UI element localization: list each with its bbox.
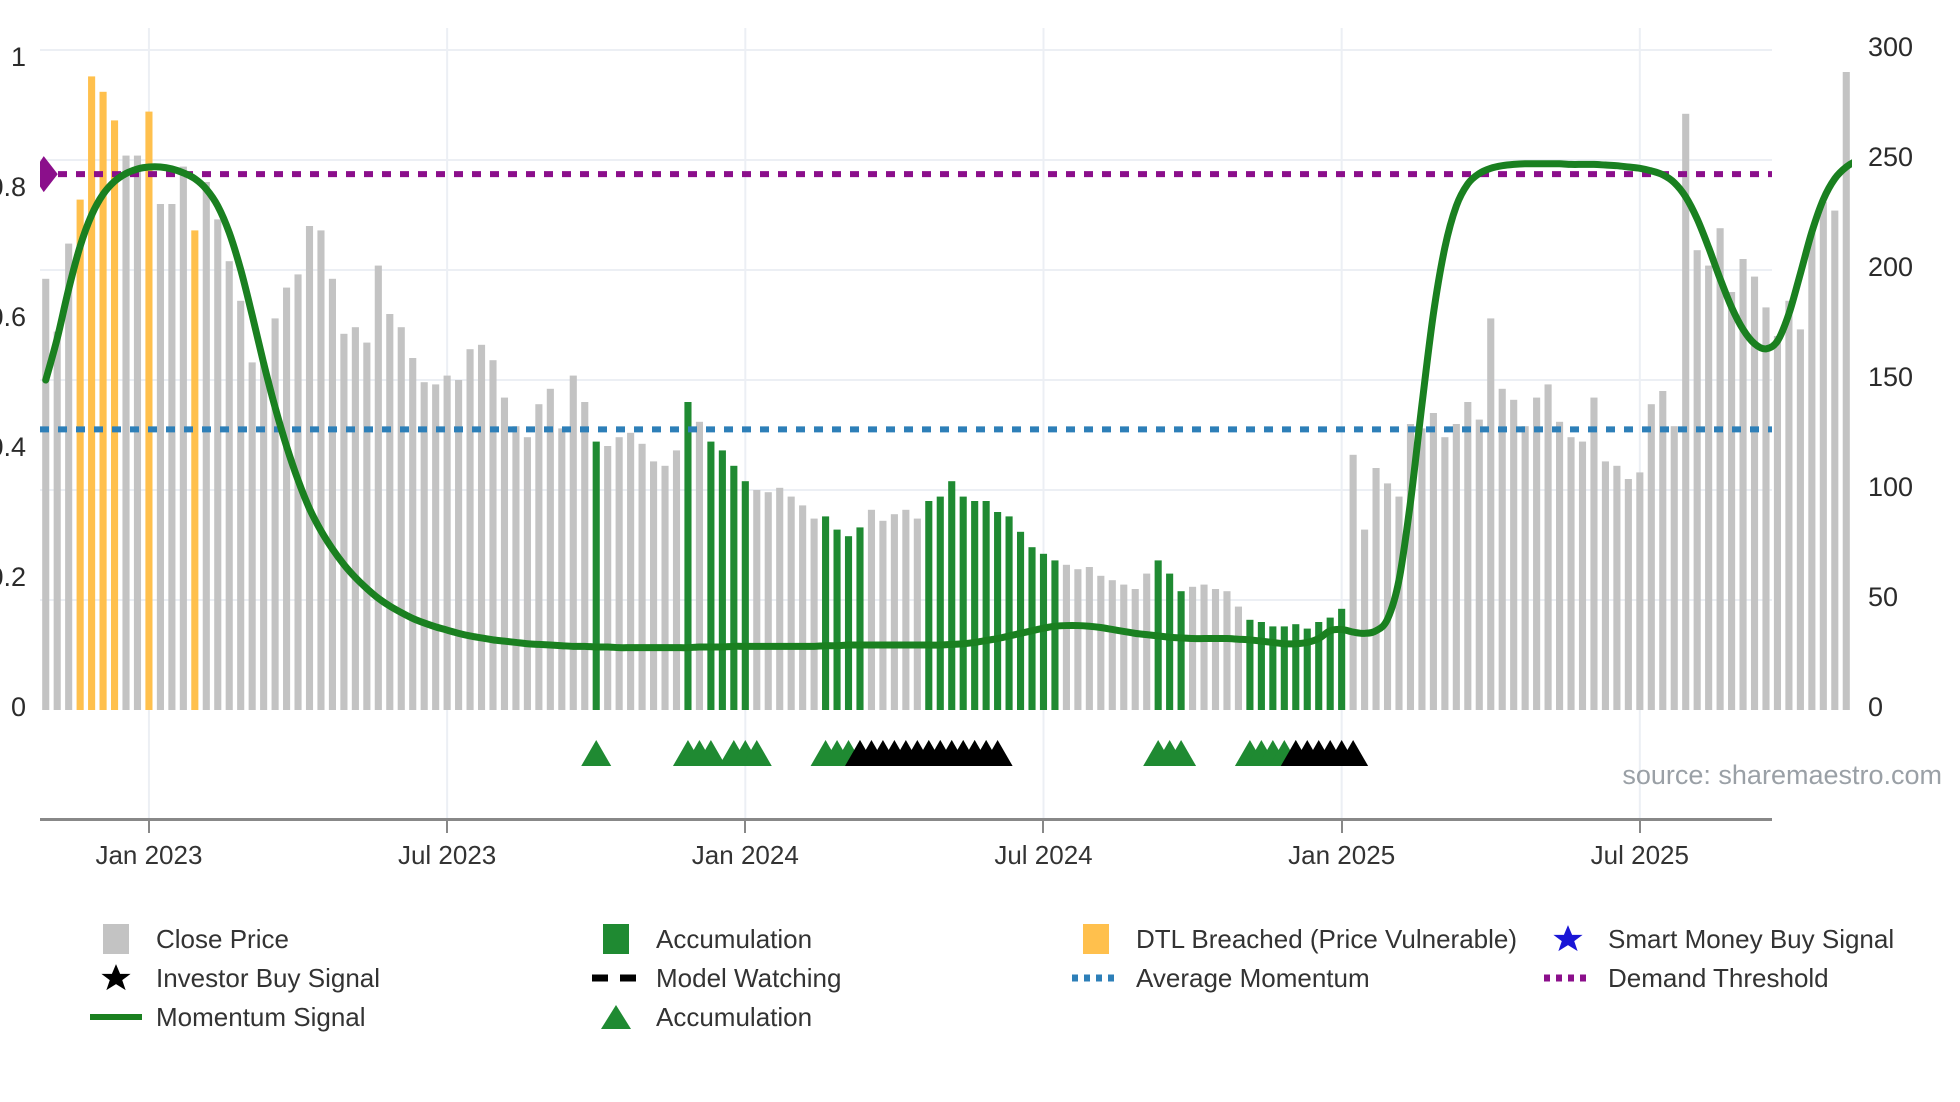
demand-threshold-dot-icon (1542, 961, 1594, 995)
bar-close-price (1373, 468, 1380, 710)
legend-item-label: Smart Money Buy Signal (1608, 926, 1894, 952)
legend-item[interactable]: Accumulation (588, 998, 841, 1036)
bar-close-price (1728, 292, 1735, 710)
bar-accumulation (822, 516, 829, 710)
legend-glyph (88, 1000, 144, 1034)
chart-svg (40, 28, 1852, 830)
bar-close-price (581, 402, 588, 710)
bar-accumulation (1292, 624, 1299, 710)
bar-close-price (1522, 426, 1529, 710)
bar-close-price (272, 318, 279, 710)
bar-close-price (765, 492, 772, 710)
bar-close-price (375, 266, 382, 710)
bar-close-price (489, 360, 496, 710)
legend-glyph (1540, 961, 1596, 995)
smart-money-star-icon (1550, 922, 1586, 956)
bar-close-price (1097, 576, 1104, 710)
bar-dtl-breached (191, 230, 198, 710)
bar-accumulation (845, 536, 852, 710)
bar-close-price (1223, 591, 1230, 710)
chart-page: Jan 2023Jul 2023Jan 2024Jul 2024Jan 2025… (0, 0, 1960, 1102)
bar-close-price (627, 433, 634, 710)
legend-column: Smart Money Buy SignalDemand Threshold (1540, 920, 1894, 998)
bar-accumulation (960, 497, 967, 710)
close-price-swatch (103, 924, 129, 954)
bar-dtl-breached (145, 112, 152, 710)
bar-close-price (478, 345, 485, 710)
bar-close-price (868, 510, 875, 710)
bar-accumulation (593, 442, 600, 710)
bar-close-price (467, 349, 474, 710)
bar-close-price (788, 497, 795, 710)
x-axis-tick-label: Jul 2024 (994, 840, 1092, 871)
bar-accumulation (684, 402, 691, 710)
bar-close-price (1212, 589, 1219, 710)
bar-close-price (306, 226, 313, 710)
bar-close-price (398, 327, 405, 710)
bar-close-price (1464, 402, 1471, 710)
bar-accumulation (1258, 622, 1265, 710)
bar-close-price (444, 376, 451, 710)
bar-close-price (535, 404, 542, 710)
bar-accumulation (1017, 532, 1024, 710)
bar-close-price (1200, 585, 1207, 710)
legend-item[interactable]: Demand Threshold (1540, 959, 1894, 997)
y-axis-right-tick-label: 50 (1868, 582, 1898, 613)
bar-close-price (1235, 607, 1242, 710)
legend-glyph (1068, 961, 1124, 995)
x-axis-tick-label: Jul 2023 (398, 840, 496, 871)
bar-close-price (547, 389, 554, 710)
bar-close-price (214, 219, 221, 710)
chart-plot-area (40, 28, 1852, 710)
bar-close-price (811, 519, 818, 710)
bar-close-price (1132, 589, 1139, 710)
legend-glyph (88, 961, 144, 995)
legend-column: Close PriceInvestor Buy SignalMomentum S… (88, 920, 380, 1037)
bar-close-price (891, 514, 898, 710)
legend-glyph (1540, 922, 1596, 956)
bar-close-price (203, 182, 210, 710)
bar-close-price (363, 343, 370, 710)
bar-close-price (1797, 329, 1804, 710)
bar-accumulation (971, 501, 978, 710)
legend-item[interactable]: Model Watching (588, 959, 841, 997)
legend-item[interactable]: DTL Breached (Price Vulnerable) (1068, 920, 1517, 958)
bar-close-price (879, 521, 886, 710)
bar-close-price (1556, 422, 1563, 710)
bar-close-price (1705, 266, 1712, 710)
momentum-line-icon (90, 1014, 142, 1020)
legend-item-label: Demand Threshold (1608, 965, 1829, 991)
legend-item[interactable]: Close Price (88, 920, 380, 958)
bar-close-price (1774, 336, 1781, 710)
y-axis-right-tick-label: 250 (1868, 142, 1913, 173)
bar-close-price (1418, 428, 1425, 710)
legend-item[interactable]: Accumulation (588, 920, 841, 958)
y-axis-left-tick-label: 0.6 (0, 302, 26, 333)
bar-close-price (650, 461, 657, 710)
y-axis-left-tick-label: 0.8 (0, 172, 26, 203)
bar-close-price (661, 466, 668, 710)
bar-close-price (902, 510, 909, 710)
bar-close-price (1545, 384, 1552, 710)
bar-accumulation (994, 512, 1001, 710)
x-axis-tick-mark (1042, 821, 1044, 833)
bar-accumulation (937, 497, 944, 710)
y-axis-right-tick-label: 150 (1868, 362, 1913, 393)
x-axis-tick-mark (1341, 821, 1343, 833)
bar-close-price (168, 204, 175, 710)
bar-close-price (226, 261, 233, 710)
accumulation-swatch (603, 924, 629, 954)
bar-close-price (1086, 567, 1093, 710)
bar-accumulation (1246, 620, 1253, 710)
bar-close-price (1831, 211, 1838, 710)
x-axis-spine (40, 818, 1772, 821)
legend-item[interactable]: Smart Money Buy Signal (1540, 920, 1894, 958)
bar-close-price (42, 279, 49, 710)
bar-close-price (1717, 228, 1724, 710)
bar-close-price (1579, 442, 1586, 710)
legend-glyph (1068, 922, 1124, 956)
bar-accumulation (1338, 609, 1345, 710)
bar-accumulation (742, 481, 749, 710)
bar-close-price (558, 428, 565, 710)
x-axis-tick-label: Jul 2025 (1591, 840, 1689, 871)
legend-item-label: DTL Breached (Price Vulnerable) (1136, 926, 1517, 952)
bar-accumulation (1281, 626, 1288, 710)
bar-close-price (524, 437, 531, 710)
legend-item-label: Accumulation (656, 926, 812, 952)
bar-accumulation (856, 527, 863, 710)
bar-close-price (352, 327, 359, 710)
bar-close-price (1671, 426, 1678, 710)
bar-close-price (753, 490, 760, 710)
legend-item[interactable]: Momentum Signal (88, 998, 380, 1036)
bar-accumulation (1006, 516, 1013, 710)
legend-item-label: Close Price (156, 926, 289, 952)
legend-item[interactable]: Average Momentum (1068, 959, 1517, 997)
bar-accumulation (730, 466, 737, 710)
legend-item[interactable]: Investor Buy Signal (88, 959, 380, 997)
smart-money-buy-marker (40, 156, 58, 192)
bar-close-price (1510, 400, 1517, 710)
bar-accumulation (1166, 574, 1173, 710)
bar-close-price (1785, 301, 1792, 710)
legend-glyph (588, 922, 644, 956)
source-attribution: source: sharemaestro.com (1622, 760, 1942, 791)
bar-accumulation (707, 442, 714, 710)
bar-close-price (1499, 389, 1506, 710)
bar-dtl-breached (100, 92, 107, 710)
bar-close-price (1808, 233, 1815, 710)
bar-close-price (1074, 569, 1081, 710)
bar-close-price (1430, 413, 1437, 710)
dtl-breached-swatch (1083, 924, 1109, 954)
bar-close-price (1120, 585, 1127, 710)
bar-close-price (340, 334, 347, 710)
bar-close-price (914, 519, 921, 710)
bar-accumulation (1178, 591, 1185, 710)
bar-close-price (1533, 398, 1540, 710)
bar-close-price (122, 156, 129, 710)
bar-close-price (54, 332, 61, 710)
bar-close-price (157, 204, 164, 710)
bar-close-price (799, 505, 806, 710)
bar-close-price (1453, 424, 1460, 710)
legend-item-label: Investor Buy Signal (156, 965, 380, 991)
legend-glyph (88, 922, 144, 956)
legend-glyph (588, 1000, 644, 1034)
legend-item-label: Accumulation (656, 1004, 812, 1030)
bar-close-price (673, 450, 680, 710)
y-axis-right-tick-label: 100 (1868, 472, 1913, 503)
bar-close-price (1636, 472, 1643, 710)
x-axis-tick-label: Jan 2023 (95, 840, 202, 871)
bar-close-price (570, 376, 577, 710)
x-axis-tick-mark (744, 821, 746, 833)
y-axis-left-tick-label: 0 (11, 692, 26, 723)
bar-close-price (1567, 437, 1574, 710)
bar-close-price (1613, 466, 1620, 710)
y-axis-right-tick-label: 200 (1868, 252, 1913, 283)
y-axis-left-tick-label: 1 (11, 42, 26, 73)
bar-close-price (260, 362, 267, 710)
x-axis-tick-mark (148, 821, 150, 833)
bar-dtl-breached (111, 120, 118, 710)
bar-close-price (512, 426, 519, 710)
bar-close-price (1694, 250, 1701, 710)
bar-accumulation (719, 450, 726, 710)
y-axis-left-tick-label: 0.2 (0, 562, 26, 593)
x-axis: Jan 2023Jul 2023Jan 2024Jul 2024Jan 2025… (40, 818, 1852, 888)
bar-close-price (1109, 580, 1116, 710)
bar-close-price (1602, 461, 1609, 710)
bar-close-price (616, 437, 623, 710)
bar-close-price (1063, 565, 1070, 710)
bar-close-price (1590, 398, 1597, 710)
bar-close-price (639, 444, 646, 710)
y-axis-right-tick-label: 0 (1868, 692, 1883, 723)
investor-buy-star-icon (98, 961, 134, 995)
bar-close-price (432, 384, 439, 710)
bar-close-price (1143, 574, 1150, 710)
bar-close-price (1384, 483, 1391, 710)
legend-glyph (588, 961, 644, 995)
bar-close-price (1487, 318, 1494, 710)
y-axis-left-tick-label: 0.4 (0, 432, 26, 463)
model-watching-dash-icon (590, 961, 642, 995)
legend-column: AccumulationModel WatchingAccumulation (588, 920, 841, 1037)
bar-close-price (1625, 479, 1632, 710)
bar-close-price (1361, 530, 1368, 710)
bar-close-price (1762, 307, 1769, 710)
bar-close-price (329, 279, 336, 710)
bar-accumulation (833, 530, 840, 710)
accumulation-triangle-marker (581, 740, 611, 766)
bar-close-price (317, 230, 324, 710)
bar-close-price (1820, 202, 1827, 710)
bar-close-price (776, 488, 783, 710)
x-axis-tick-mark (1639, 821, 1641, 833)
accumulation-triangle-icon (599, 1002, 633, 1032)
bar-close-price (1441, 437, 1448, 710)
bar-close-price (237, 301, 244, 710)
bar-close-price (1189, 587, 1196, 710)
bar-close-price (134, 156, 141, 710)
legend-item-label: Momentum Signal (156, 1004, 366, 1030)
bar-close-price (180, 167, 187, 710)
legend-item-label: Model Watching (656, 965, 841, 991)
bar-close-price (249, 362, 256, 710)
bar-accumulation (925, 501, 932, 710)
bar-close-price (501, 398, 508, 710)
bar-accumulation (1051, 560, 1058, 710)
bar-accumulation (983, 501, 990, 710)
bar-close-price (696, 422, 703, 710)
bar-close-price (1476, 420, 1483, 710)
bar-dtl-breached (77, 200, 84, 710)
x-axis-tick-mark (446, 821, 448, 833)
legend-column: DTL Breached (Price Vulnerable)Average M… (1068, 920, 1517, 998)
bar-accumulation (948, 481, 955, 710)
x-axis-tick-label: Jan 2024 (692, 840, 799, 871)
x-axis-tick-label: Jan 2025 (1288, 840, 1395, 871)
bar-close-price (1350, 455, 1357, 710)
bar-close-price (409, 358, 416, 710)
bar-close-price (386, 314, 393, 710)
bar-close-price (1648, 404, 1655, 710)
bar-close-price (604, 446, 611, 710)
legend-item-label: Average Momentum (1136, 965, 1370, 991)
bar-close-price (1659, 391, 1666, 710)
average-momentum-dot-icon (1070, 961, 1122, 995)
bar-close-price (283, 288, 290, 710)
y-axis-right-tick-label: 300 (1868, 32, 1913, 63)
